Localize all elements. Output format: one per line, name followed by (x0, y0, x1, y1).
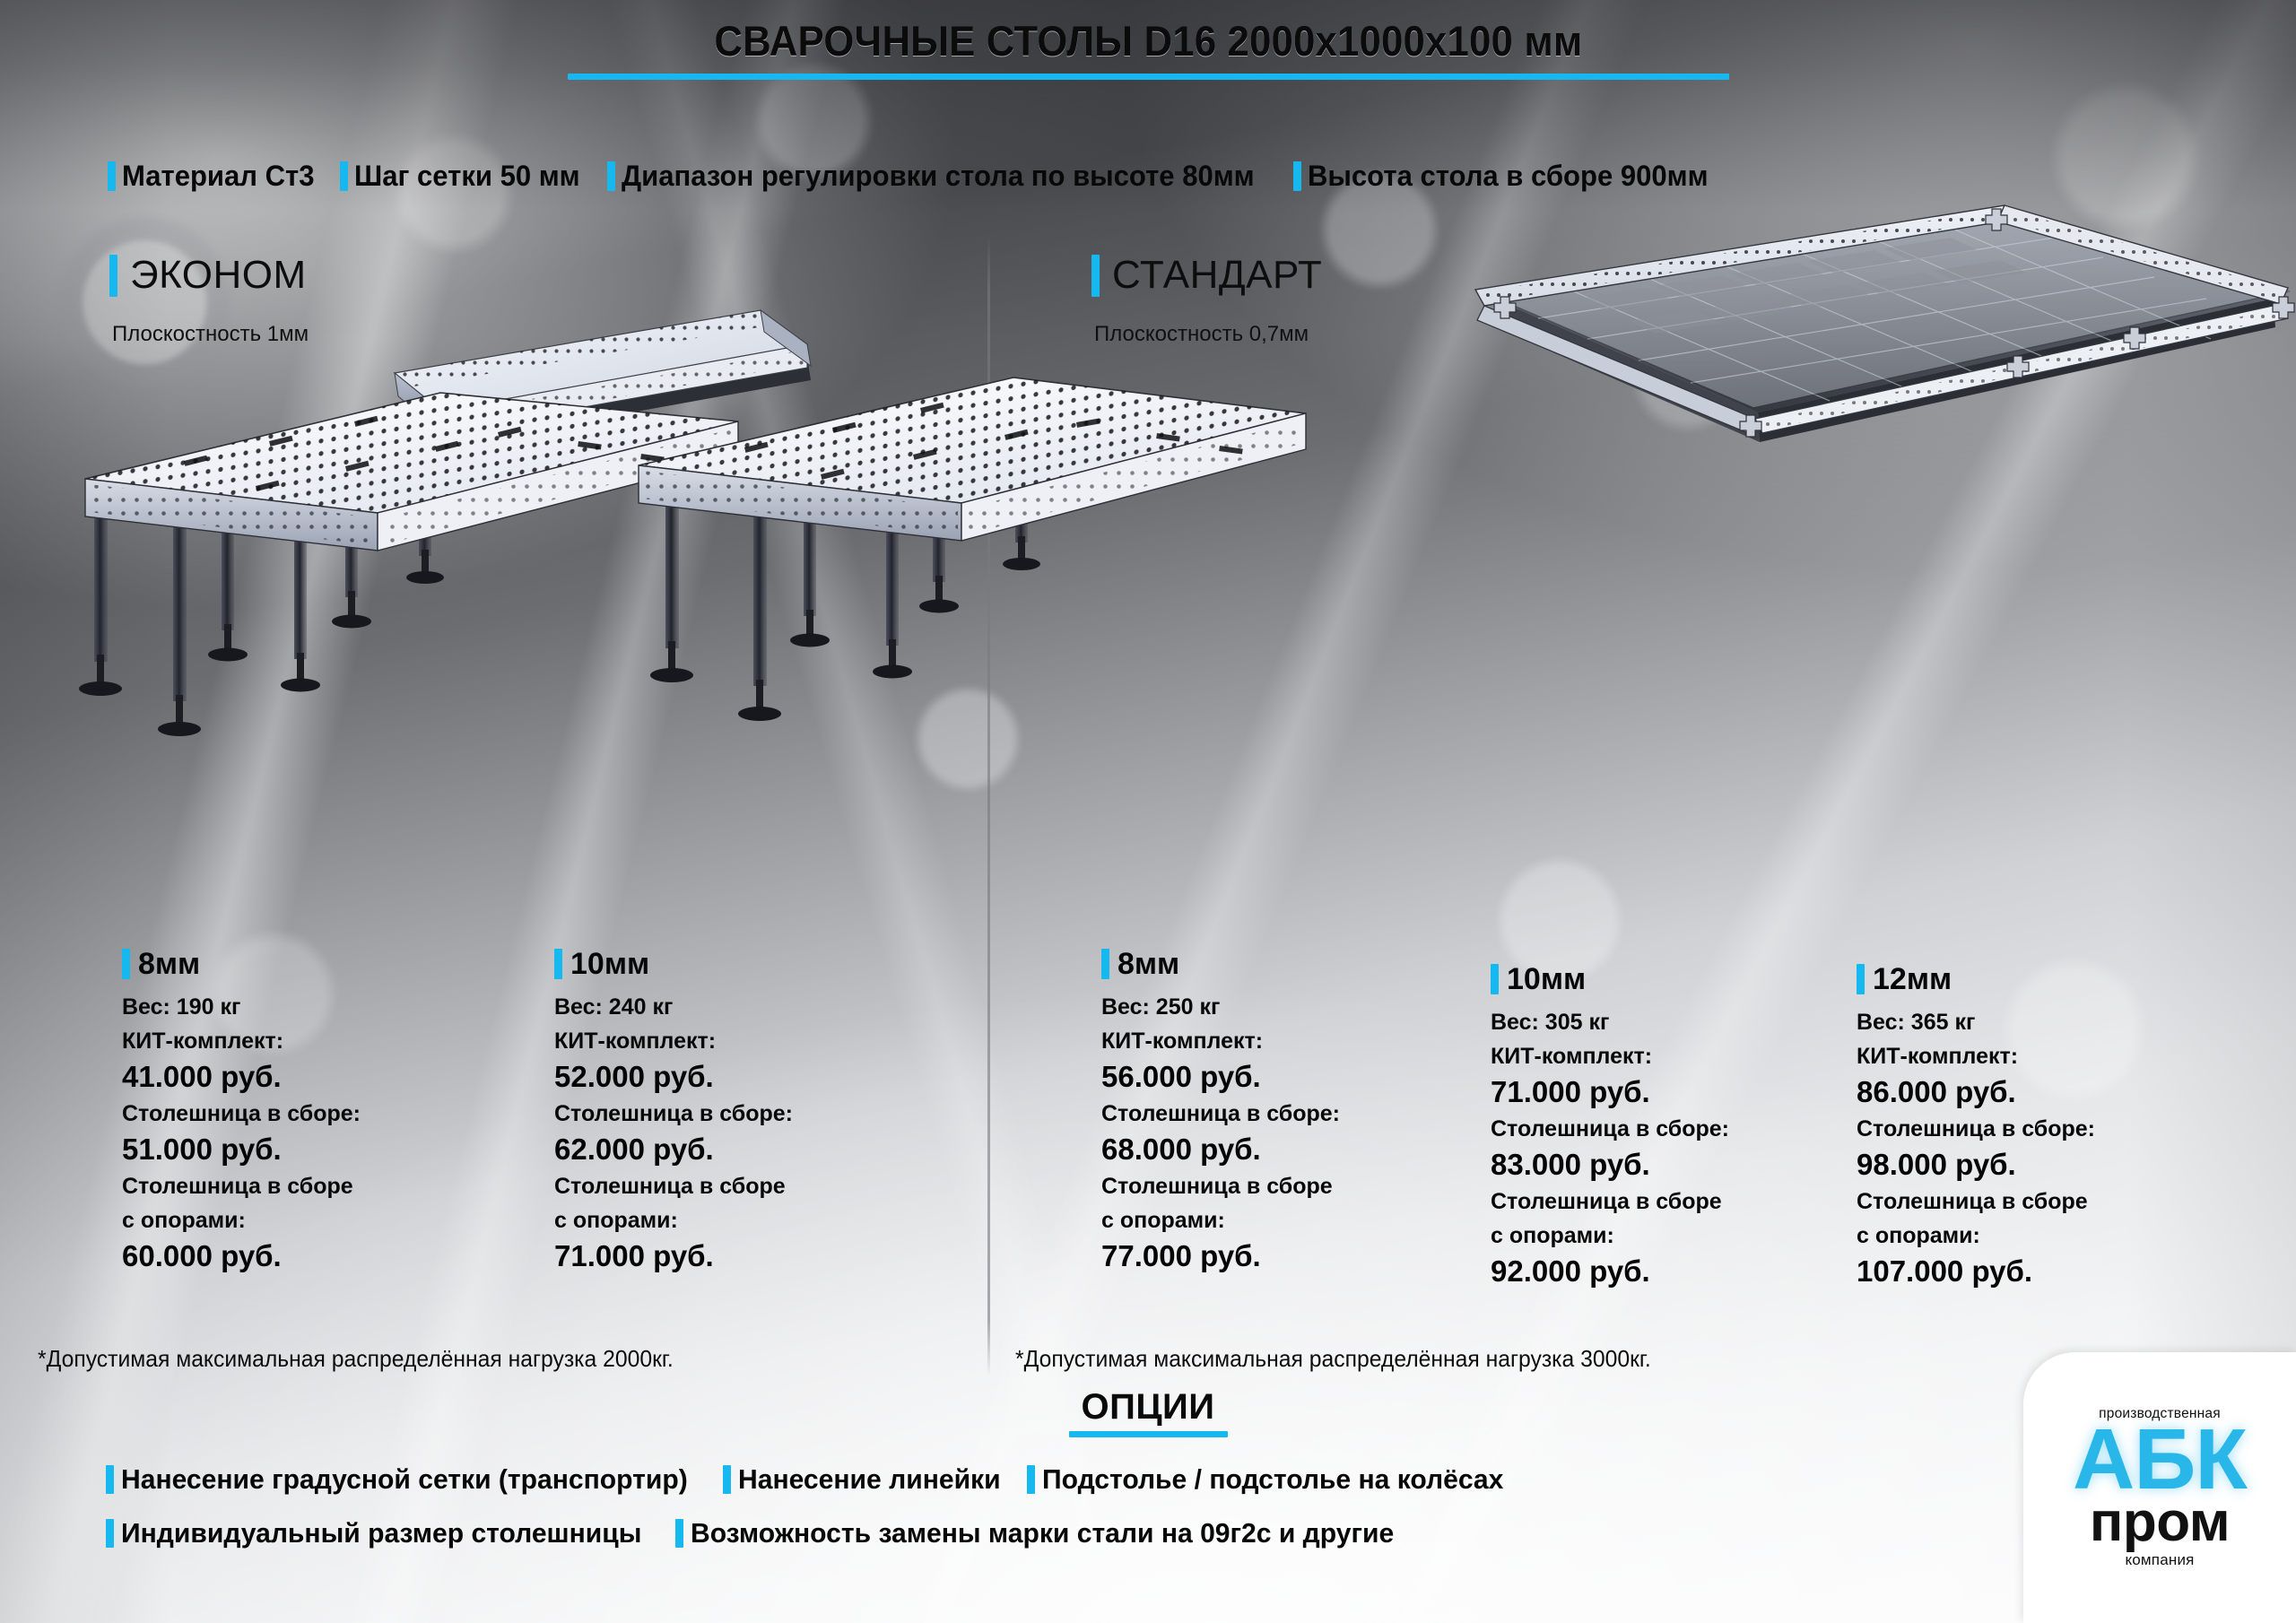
price-card-standard-10mm: 10мм Вес: 305 кг КИТ-комплект: 71.000 ру… (1491, 964, 1729, 1291)
legs-label-1: Столешница в сборе (1857, 1185, 2095, 1219)
thickness-label: 8мм (138, 949, 200, 979)
legs-label-2: с опорами: (122, 1203, 361, 1237)
bullet-tick-icon (1857, 964, 1865, 994)
bullet-tick-icon (554, 949, 562, 979)
price-card-standard-8mm: 8мм Вес: 250 кг КИТ-комплект: 56.000 руб… (1101, 949, 1340, 1276)
weight-label: Вес: 250 кг (1101, 990, 1340, 1024)
section-flatness-standard: Плоскостность 0,7мм (1094, 322, 1322, 347)
legs-label-1: Столешница в сборе (122, 1169, 361, 1203)
kit-label: КИТ-комплект: (1857, 1039, 2095, 1073)
price-card-econom-8mm: 8мм Вес: 190 кг КИТ-комплект: 41.000 руб… (122, 949, 361, 1276)
legs-label-2: с опорами: (1491, 1219, 1729, 1253)
price-card-econom-10mm: 10мм Вес: 240 кг КИТ-комплект: 52.000 ру… (554, 949, 793, 1276)
weight-label: Вес: 240 кг (554, 990, 793, 1024)
bullet-tick-icon (1027, 1465, 1035, 1494)
kit-label: КИТ-комплект: (122, 1024, 361, 1058)
standard-frame-illustration (1386, 193, 2292, 578)
bullet-tick-icon (1101, 949, 1109, 979)
section-flatness-econom: Плоскостность 1мм (112, 322, 309, 347)
kit-label: КИТ-комплект: (1101, 1024, 1340, 1058)
bullet-tick-icon (1293, 161, 1301, 191)
top-price: 98.000 руб. (1857, 1146, 2095, 1185)
option-label: Подстолье / подстолье на колёсах (1042, 1463, 1503, 1496)
top-label: Столешница в сборе: (122, 1097, 361, 1131)
legs-price: 92.000 руб. (1491, 1253, 1729, 1291)
section-standard-header: СТАНДАРТ Плоскостность 0,7мм (1091, 253, 1322, 347)
footnote-econom: *Допустимая максимальная распределённая … (38, 1345, 674, 1373)
bullet-tick-icon (723, 1465, 731, 1494)
weight-label: Вес: 190 кг (122, 990, 361, 1024)
kit-price: 56.000 руб. (1101, 1058, 1340, 1097)
kit-price: 86.000 руб. (1857, 1073, 2095, 1112)
footnote-standard: *Допустимая максимальная распределённая … (1015, 1345, 1651, 1373)
kit-price: 41.000 руб. (122, 1058, 361, 1097)
section-econom-header: ЭКОНОМ Плоскостность 1мм (109, 253, 309, 347)
weight-label: Вес: 305 кг (1491, 1005, 1729, 1039)
legs-price: 107.000 руб. (1857, 1253, 2095, 1291)
legs-label-1: Столешница в сборе (1101, 1169, 1340, 1203)
options-row-2: Индивидуальный размер столешницы Возможн… (106, 1517, 1416, 1549)
logo-brand-prom: пром (2090, 1497, 2230, 1549)
option-custom-size: Индивидуальный размер столешницы (106, 1517, 657, 1549)
spec-label: Высота стола в сборе 900мм (1308, 160, 1709, 193)
thickness-label: 10мм (1507, 964, 1586, 994)
bullet-tick-icon (106, 1465, 114, 1494)
top-label: Столешница в сборе: (1857, 1112, 2095, 1146)
spec-label: Шаг сетки 50 мм (354, 160, 580, 193)
legs-price: 71.000 руб. (554, 1237, 793, 1276)
spec-bar: Материал Ст3 Шаг сетки 50 мм Диапазон ре… (108, 160, 2242, 193)
section-title-standard: СТАНДАРТ (1112, 253, 1322, 298)
spec-item-material: Материал Ст3 (108, 160, 320, 193)
bullet-tick-icon (109, 255, 117, 297)
bullet-tick-icon (122, 949, 130, 979)
thickness-label: 10мм (570, 949, 649, 979)
company-logo: производственная АБК пром компания (2023, 1352, 2296, 1623)
option-ruler: Нанесение линейки (723, 1463, 1009, 1496)
top-price: 51.000 руб. (122, 1131, 361, 1169)
top-label: Столешница в сборе: (1491, 1112, 1729, 1146)
top-label: Столешница в сборе: (554, 1097, 793, 1131)
standard-table-illustration (628, 372, 1309, 946)
option-label: Нанесение линейки (738, 1463, 1001, 1496)
options-title-block: ОПЦИИ (0, 1387, 2296, 1437)
title-underline-accent (568, 74, 1729, 80)
options-underline-accent (1069, 1431, 1228, 1437)
bullet-tick-icon (675, 1519, 683, 1548)
page-title: СВАРОЧНЫЕ СТОЛЫ D16 2000x1000x100 мм (714, 16, 1582, 65)
legs-label-2: с опорами: (554, 1203, 793, 1237)
bullet-tick-icon (1091, 255, 1100, 297)
options-row-1: Нанесение градусной сетки (транспортир) … (106, 1463, 1518, 1496)
option-label: Возможность замены марки стали на 09г2с … (691, 1517, 1394, 1549)
page-title-block: СВАРОЧНЫЕ СТОЛЫ D16 2000x1000x100 мм (0, 16, 2296, 80)
thickness-label: 12мм (1873, 964, 1952, 994)
option-steel-grade: Возможность замены марки стали на 09г2с … (675, 1517, 1415, 1549)
kit-label: КИТ-комплект: (1491, 1039, 1729, 1073)
top-price: 62.000 руб. (554, 1131, 793, 1169)
kit-price: 71.000 руб. (1491, 1073, 1729, 1112)
options-title: ОПЦИИ (1081, 1387, 1214, 1428)
top-label: Столешница в сборе: (1101, 1097, 1340, 1131)
spec-item-height-adjust: Диапазон регулировки стола по высоте 80м… (607, 160, 1274, 193)
bullet-tick-icon (108, 161, 116, 191)
spec-item-total-height: Высота стола в сборе 900мм (1293, 160, 1720, 193)
thickness-label: 8мм (1118, 949, 1179, 979)
logo-tagline-bottom: компания (2125, 1551, 2194, 1569)
legs-price: 60.000 руб. (122, 1237, 361, 1276)
legs-label-2: с опорами: (1857, 1219, 2095, 1253)
kit-price: 52.000 руб. (554, 1058, 793, 1097)
legs-price: 77.000 руб. (1101, 1237, 1340, 1276)
bullet-tick-icon (106, 1519, 114, 1548)
bullet-tick-icon (340, 161, 348, 191)
price-card-standard-12mm: 12мм Вес: 365 кг КИТ-комплект: 86.000 ру… (1857, 964, 2095, 1291)
bullet-tick-icon (607, 161, 615, 191)
spec-item-grid-step: Шаг сетки 50 мм (340, 160, 587, 193)
spec-label: Материал Ст3 (122, 160, 314, 193)
option-degree-grid: Нанесение градусной сетки (транспортир) (106, 1463, 705, 1496)
option-understructure: Подстолье / подстолье на колёсах (1027, 1463, 1518, 1496)
weight-label: Вес: 365 кг (1857, 1005, 2095, 1039)
kit-label: КИТ-комплект: (554, 1024, 793, 1058)
legs-label-1: Столешница в сборе (554, 1169, 793, 1203)
top-price: 83.000 руб. (1491, 1146, 1729, 1185)
top-price: 68.000 руб. (1101, 1131, 1340, 1169)
option-label: Нанесение градусной сетки (транспортир) (121, 1463, 688, 1496)
legs-label-2: с опорами: (1101, 1203, 1340, 1237)
legs-label-1: Столешница в сборе (1491, 1185, 1729, 1219)
section-title-econom: ЭКОНОМ (130, 253, 307, 298)
logo-brand-abk: АБК (2073, 1420, 2247, 1499)
bullet-tick-icon (1491, 964, 1499, 994)
option-label: Индивидуальный размер столешницы (121, 1517, 641, 1549)
spec-label: Диапазон регулировки стола по высоте 80м… (622, 160, 1255, 193)
